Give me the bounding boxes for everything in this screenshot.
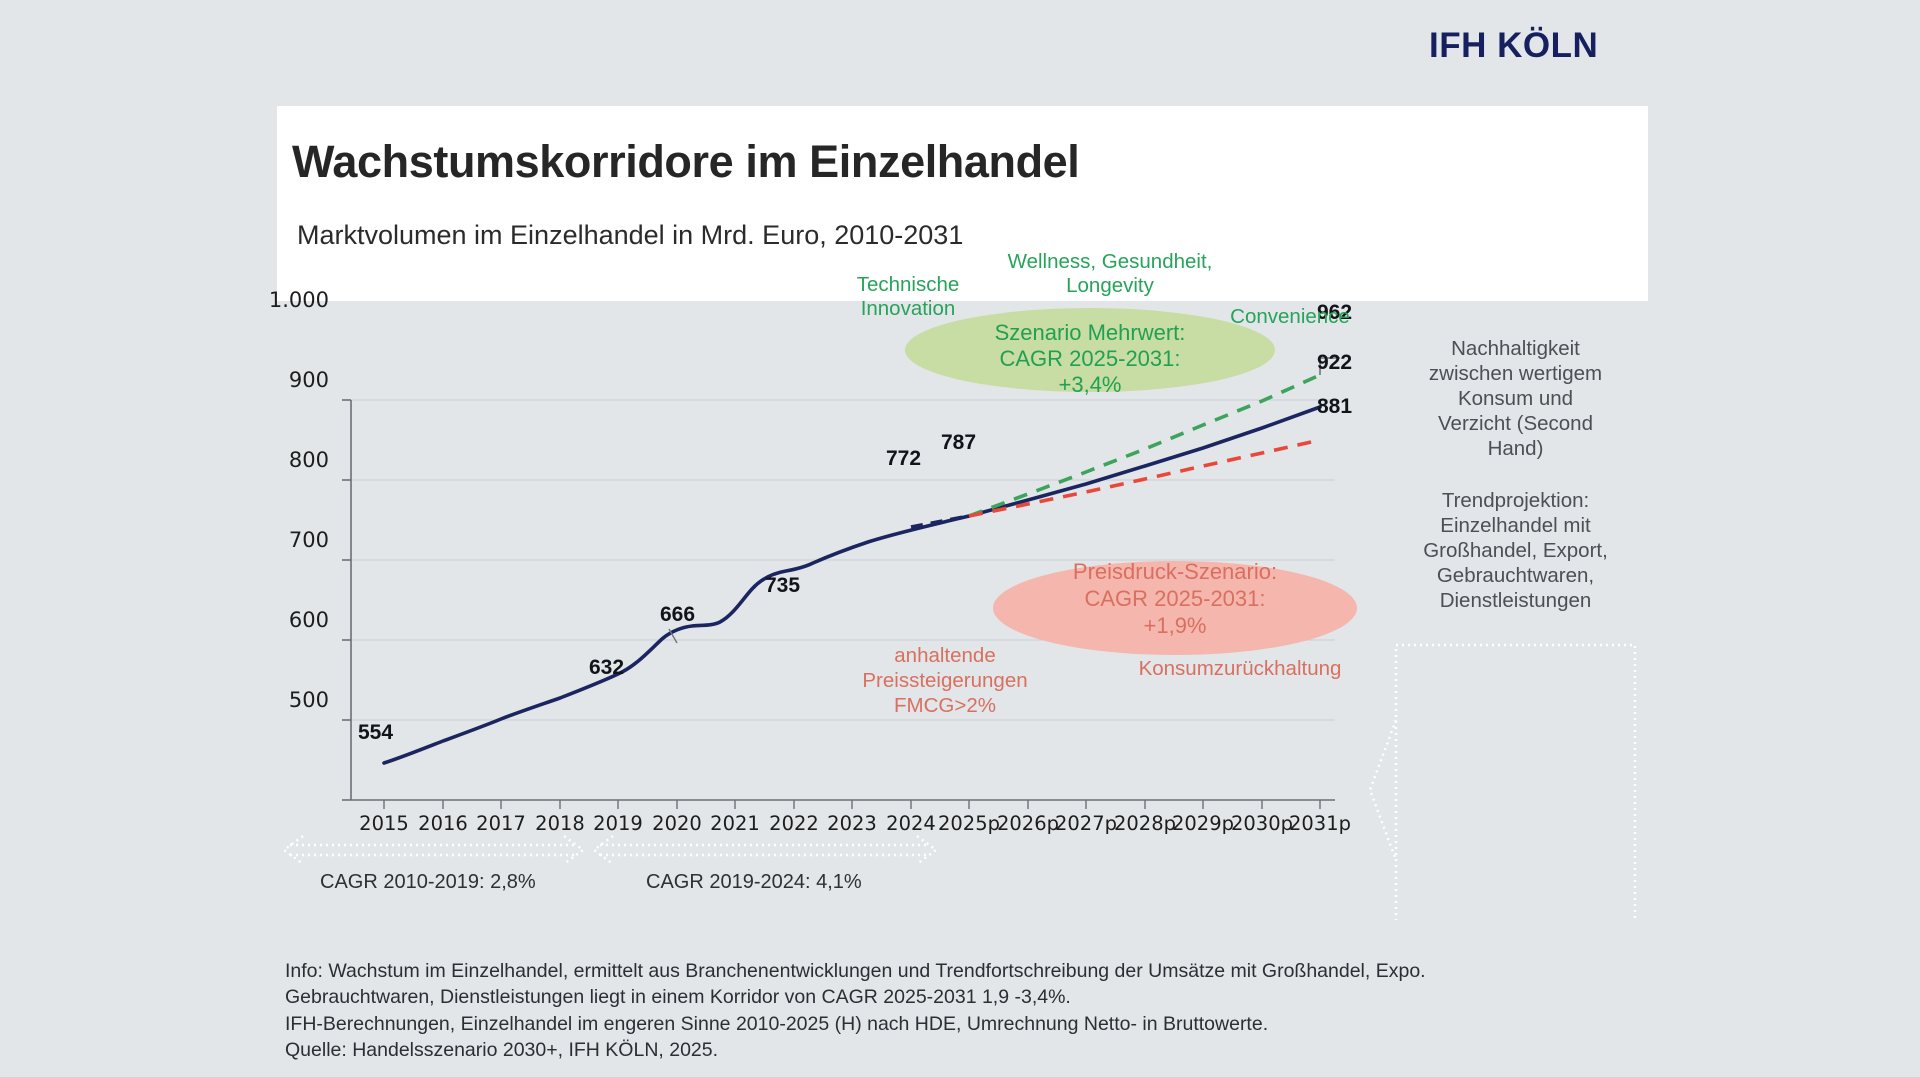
- chart-area: 500 600 700 800 900 1.000 2015 2016 2017…: [0, 300, 1920, 920]
- side-info-box-arrow: [1370, 720, 1396, 860]
- annotation-technische-innovation-line2: Innovation: [818, 296, 998, 321]
- cagr-arrow-2019-2024: [594, 836, 936, 864]
- footnote-line-3: IFH-Berechnungen, Einzelhandel im engere…: [285, 1011, 1705, 1037]
- green-bubble-line2: CAGR 2025-2031:: [930, 346, 1250, 373]
- y-tick-600: 600: [229, 608, 329, 632]
- page-title: Wachstumskorridore im Einzelhandel: [292, 136, 1079, 188]
- page-subtitle: Marktvolumen im Einzelhandel in Mrd. Eur…: [297, 220, 963, 251]
- annotation-konsumzurueckhaltung: Konsumzurückhaltung: [1090, 656, 1390, 681]
- y-tick-500: 500: [229, 688, 329, 712]
- footnote-line-4: Quelle: Handelsszenario 2030+, IFH KÖLN,…: [285, 1037, 1705, 1063]
- x-tick-2031p: 2031p: [1282, 812, 1358, 835]
- y-tick-900: 900: [229, 368, 329, 392]
- cagr-caption-2010-2019: CAGR 2010-2019: 2,8%: [320, 871, 536, 894]
- footnote-block: Info: Wachstum im Einzelhandel, ermittel…: [285, 958, 1705, 1063]
- annotation-anhaltende-line3: FMCG>2%: [835, 693, 1055, 718]
- data-label-787: 787: [941, 431, 976, 455]
- cagr-arrow-2010-2019: [284, 836, 583, 864]
- annotation-wellness-line2: Longevity: [960, 273, 1260, 298]
- annotation-wellness-line1: Wellness, Gesundheit,: [960, 249, 1260, 274]
- red-bubble-line2: CAGR 2025-2031:: [1015, 586, 1335, 613]
- data-label-922: 922: [1317, 351, 1352, 375]
- data-label-772: 772: [886, 447, 921, 471]
- y-axis-ticks: [342, 400, 351, 800]
- annotation-anhaltende-line1: anhaltende: [835, 643, 1055, 668]
- footnote-line-2: Gebrauchtwaren, Dienstleistungen liegt i…: [285, 984, 1705, 1010]
- side-box-sustainability-line3: Konsum und: [1400, 386, 1631, 411]
- side-info-box: [1396, 645, 1635, 920]
- side-box-trend-line3: Großhandel, Export,: [1400, 538, 1631, 563]
- y-tick-800: 800: [229, 448, 329, 472]
- side-box-trend-line2: Einzelhandel mit: [1400, 513, 1631, 538]
- series-trendprojektion-bridge: [911, 516, 969, 527]
- annotation-anhaltende-line2: Preissteigerungen: [835, 668, 1055, 693]
- series-preisdruck-szenario: [969, 440, 1320, 516]
- data-label-666: 666: [660, 603, 695, 627]
- series-trendprojektion-forecast: [969, 407, 1320, 516]
- footnote-line-1: Info: Wachstum im Einzelhandel, ermittel…: [285, 958, 1705, 984]
- data-label-881: 881: [1317, 395, 1352, 419]
- data-label-735: 735: [765, 574, 800, 598]
- data-label-554: 554: [358, 721, 393, 745]
- y-tick-1000: 1.000: [215, 288, 329, 312]
- side-box-sustainability-line5: Hand): [1400, 436, 1631, 461]
- red-bubble-line1: Preisdruck-Szenario:: [1015, 559, 1335, 586]
- side-box-trend-line5: Dienstleistungen: [1400, 588, 1631, 613]
- ifh-koeln-logo: IFH KÖLN: [1429, 26, 1598, 66]
- slide-root: IFH KÖLN Wachstumskorridore im Einzelhan…: [0, 0, 1920, 1077]
- side-box-sustainability-line2: zwischen wertigem: [1400, 361, 1631, 386]
- red-bubble-line3: +1,9%: [1015, 613, 1335, 640]
- side-box-sustainability-line4: Verzicht (Second: [1400, 411, 1631, 436]
- green-bubble-line1: Szenario Mehrwert:: [930, 320, 1250, 347]
- cagr-caption-2019-2024: CAGR 2019-2024: 4,1%: [646, 871, 862, 894]
- side-box-sustainability-line1: Nachhaltigkeit: [1400, 336, 1631, 361]
- green-bubble-line3: +3,4%: [930, 372, 1250, 399]
- side-box-trend-line1: Trendprojektion:: [1400, 488, 1631, 513]
- data-label-632: 632: [589, 656, 624, 680]
- y-tick-700: 700: [229, 528, 329, 552]
- x-axis-ticks: [384, 800, 1320, 809]
- side-box-trend-line4: Gebrauchtwaren,: [1400, 563, 1631, 588]
